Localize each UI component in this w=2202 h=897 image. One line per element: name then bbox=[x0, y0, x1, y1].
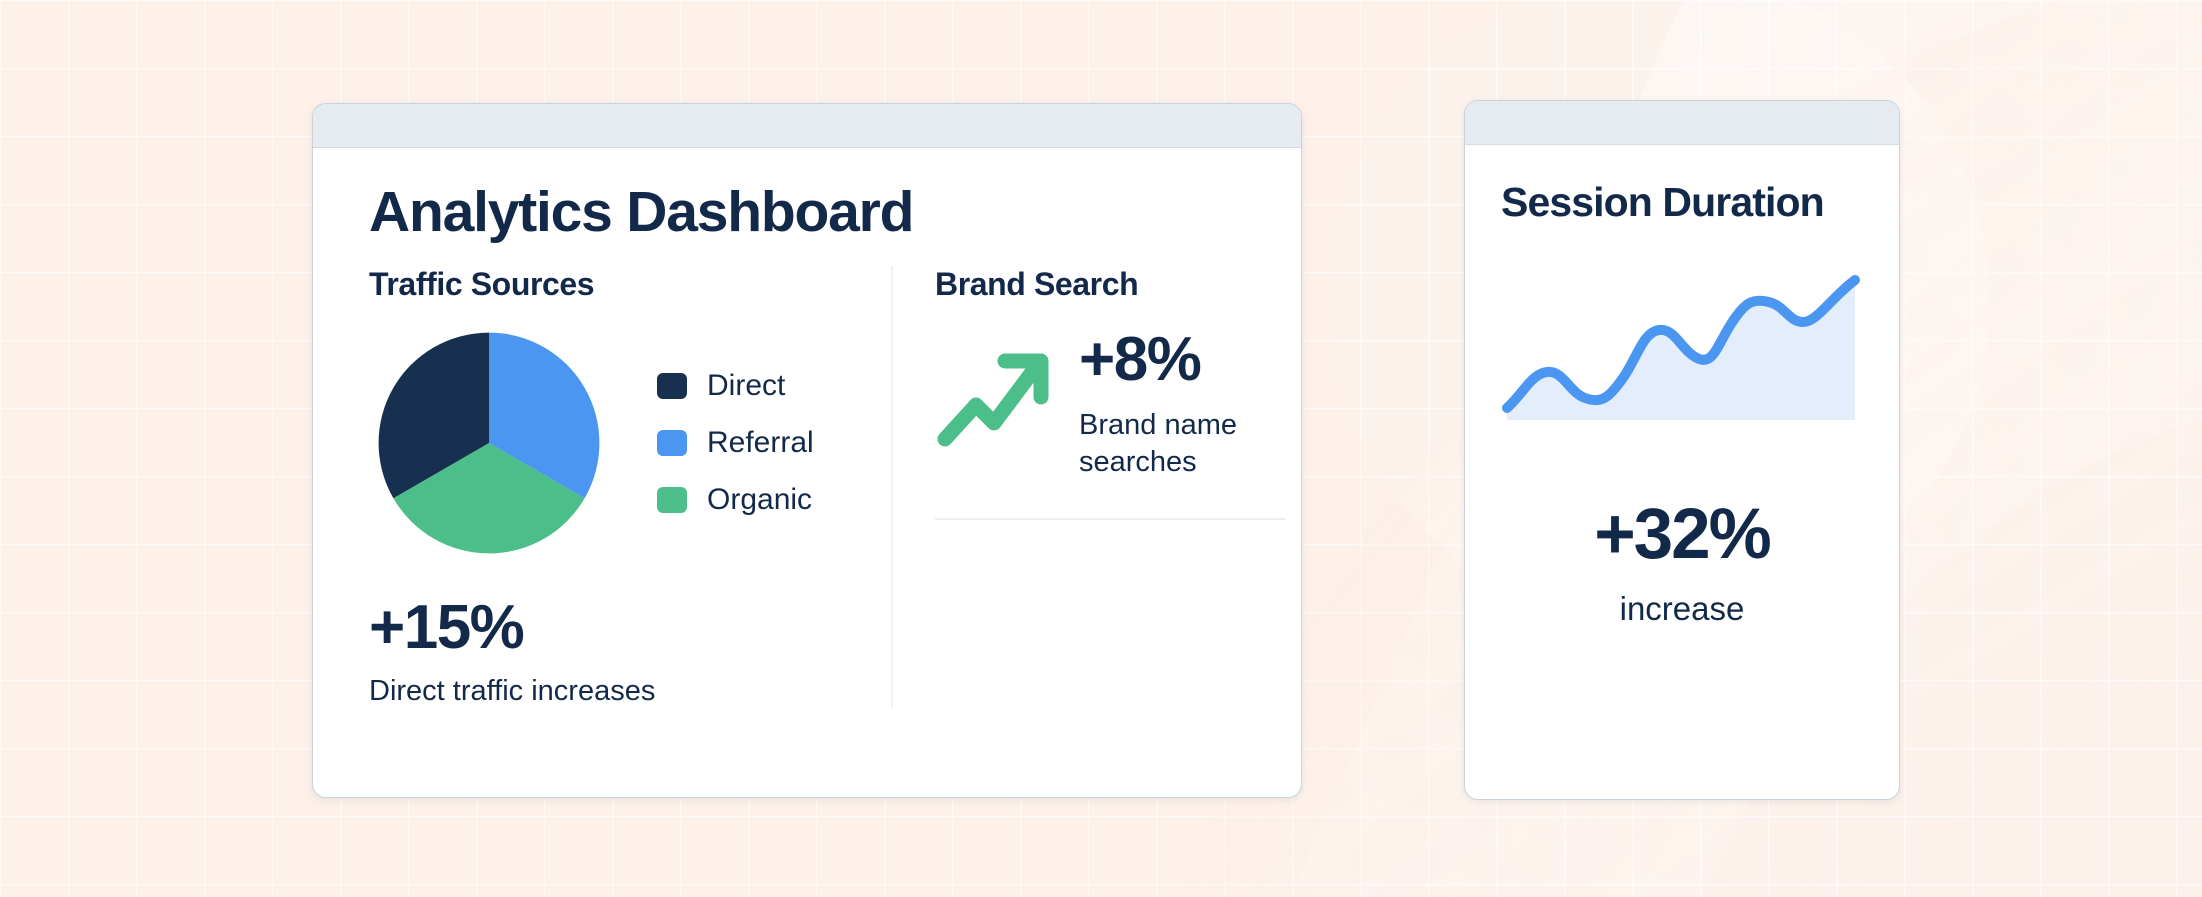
session-stat-caption: increase bbox=[1501, 590, 1863, 628]
brand-stat-caption: Brand name searches bbox=[1079, 407, 1279, 480]
pie-chart-legend: Direct Referral Organic bbox=[657, 369, 814, 517]
legend-label-organic: Organic bbox=[707, 483, 812, 517]
session-duration-title: Session Duration bbox=[1501, 179, 1863, 226]
pie-chart-row: Direct Referral Organic bbox=[369, 323, 881, 563]
brand-search-figures: +8% Brand name searches bbox=[1079, 329, 1279, 480]
card-titlebar bbox=[1465, 101, 1899, 145]
trending-up-arrow-icon bbox=[935, 343, 1057, 451]
legend-swatch-referral-icon bbox=[657, 430, 687, 456]
legend-item-organic: Organic bbox=[657, 483, 814, 517]
legend-label-referral: Referral bbox=[707, 426, 814, 460]
legend-label-direct: Direct bbox=[707, 369, 785, 403]
card-titlebar bbox=[313, 104, 1301, 148]
session-duration-card: Session Duration +32% increase bbox=[1464, 100, 1900, 800]
legend-item-referral: Referral bbox=[657, 426, 814, 460]
brand-search-heading: Brand Search bbox=[935, 266, 1285, 303]
session-duration-area-chart bbox=[1501, 268, 1865, 453]
legend-swatch-direct-icon bbox=[657, 373, 687, 399]
brand-section-divider bbox=[935, 518, 1285, 520]
analytics-dashboard-card: Analytics Dashboard Traffic Sources bbox=[312, 103, 1302, 798]
panels-row: Traffic Sources bbox=[369, 266, 1245, 708]
brand-stat-value: +8% bbox=[1079, 329, 1279, 391]
page-title: Analytics Dashboard bbox=[369, 182, 1245, 242]
traffic-sources-panel: Traffic Sources bbox=[369, 266, 881, 708]
traffic-sources-heading: Traffic Sources bbox=[369, 266, 881, 303]
brand-search-row: +8% Brand name searches bbox=[935, 329, 1285, 480]
dashboard-illustration: Analytics Dashboard Traffic Sources bbox=[0, 0, 2202, 897]
legend-item-direct: Direct bbox=[657, 369, 814, 403]
brand-search-panel: Brand Search +8% Brand name searches bbox=[891, 266, 1285, 708]
session-stat-block: +32% increase bbox=[1501, 499, 1863, 628]
legend-swatch-organic-icon bbox=[657, 487, 687, 513]
traffic-stat-caption: Direct traffic increases bbox=[369, 675, 881, 708]
session-card-body: Session Duration +32% increase bbox=[1465, 145, 1899, 799]
traffic-stat-block: +15% Direct traffic increases bbox=[369, 597, 881, 708]
traffic-stat-value: +15% bbox=[369, 597, 881, 659]
session-stat-value: +32% bbox=[1501, 499, 1863, 570]
traffic-sources-pie-chart bbox=[369, 323, 609, 563]
analytics-card-body: Analytics Dashboard Traffic Sources bbox=[313, 148, 1301, 797]
